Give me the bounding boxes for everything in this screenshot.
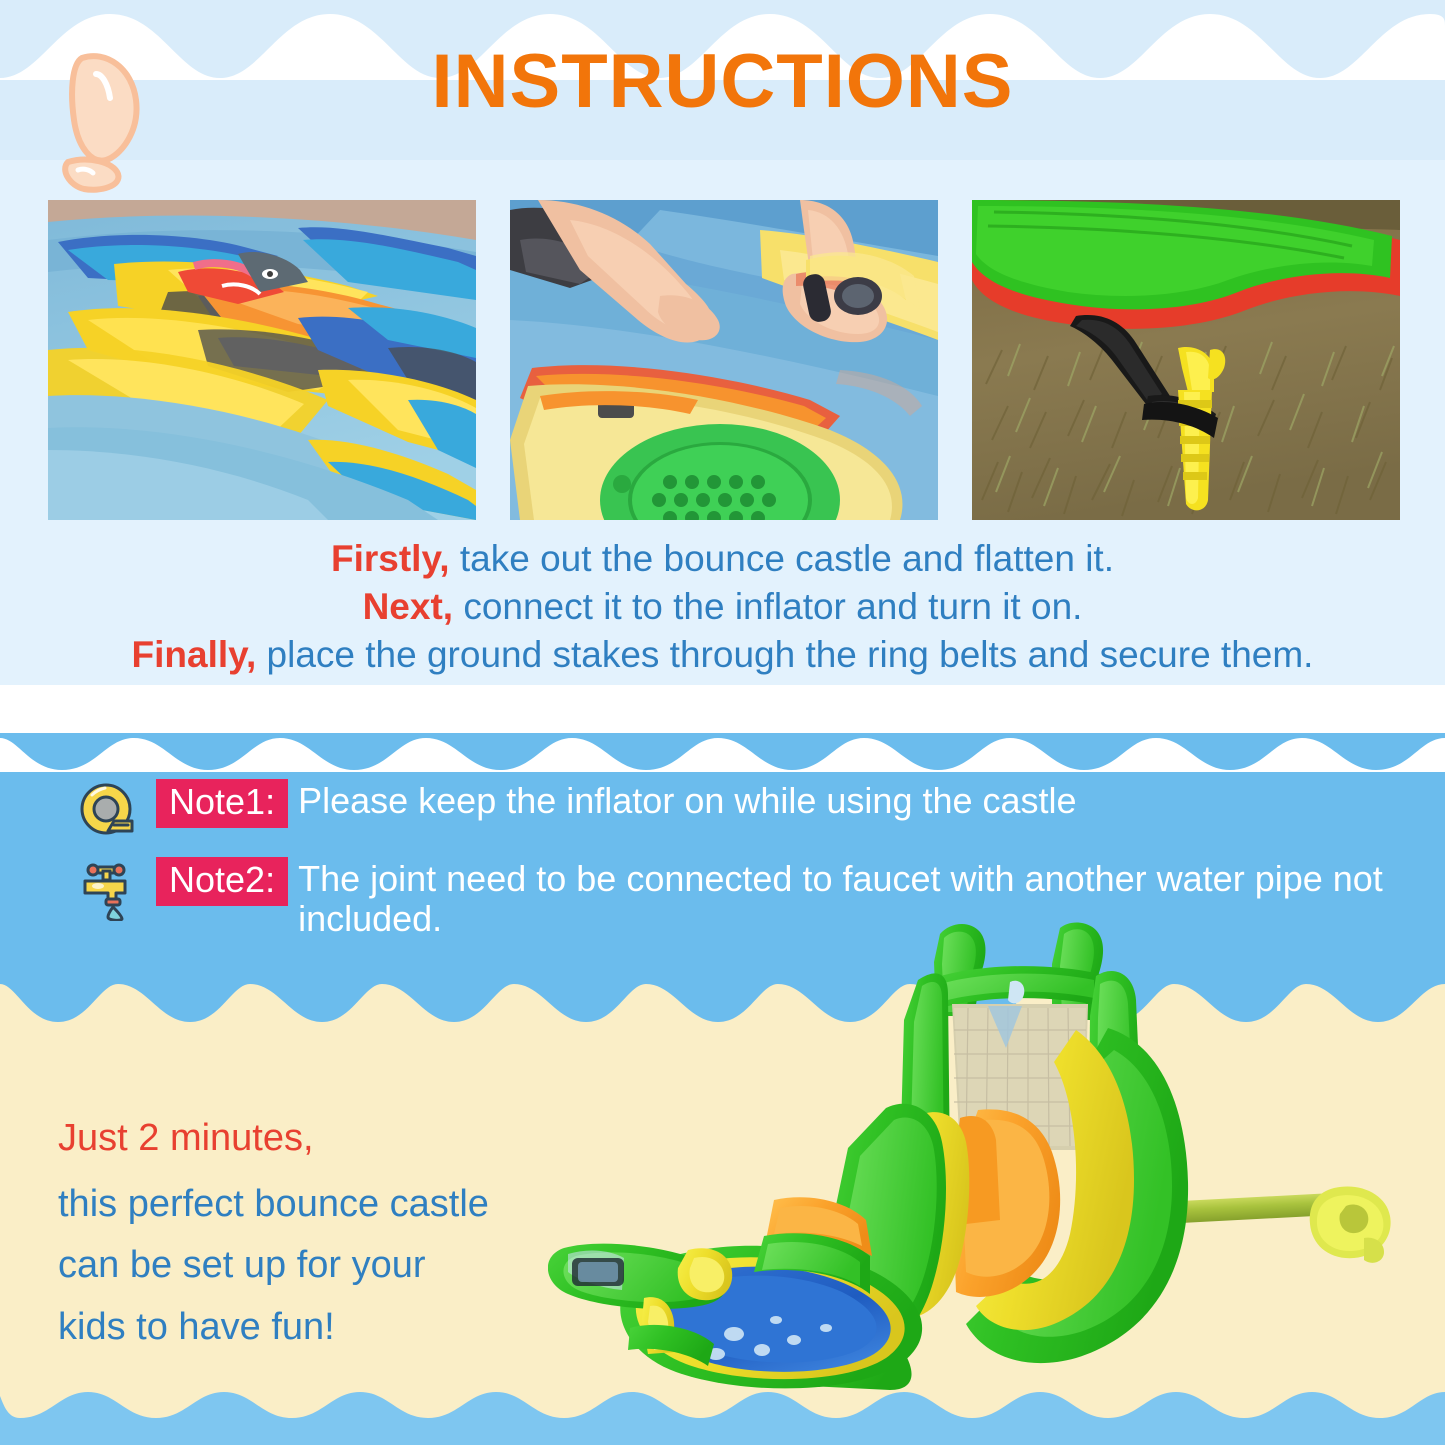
step-body-2: connect it to the inflator and turn it o… xyxy=(453,586,1082,627)
tape-measure-icon xyxy=(78,781,140,843)
step-body-3: place the ground stakes through the ring… xyxy=(256,634,1313,675)
steps-section: Firstly, take out the bounce castle and … xyxy=(0,160,1445,685)
instructions-page: INSTRUCTIONS xyxy=(0,0,1445,1445)
step-keyword-2: Next, xyxy=(363,586,453,627)
page-title: INSTRUCTIONS xyxy=(0,38,1445,125)
step-keyword-1: Firstly, xyxy=(331,538,450,579)
step-body-1: take out the bounce castle and flatten i… xyxy=(450,538,1114,579)
step-line-3: Finally, place the ground stakes through… xyxy=(0,631,1445,679)
photo-unfolded-castle xyxy=(48,200,476,520)
step-line-2: Next, connect it to the inflator and tur… xyxy=(0,583,1445,631)
note-row-1: Note1: Please keep the inflator on while… xyxy=(78,781,1408,843)
product-bounce-castle-water-slide xyxy=(548,920,1445,1390)
step-line-1: Firstly, take out the bounce castle and … xyxy=(0,535,1445,583)
faucet-water-drop-icon xyxy=(78,859,140,921)
notes-wave-divider xyxy=(0,732,1445,772)
exclamation-water-drop-icon xyxy=(48,44,168,194)
note-text-1: Please keep the inflator on while using … xyxy=(298,781,1076,821)
step-keyword-3: Finally, xyxy=(132,634,257,675)
note-badge-2: Note2: xyxy=(156,857,288,906)
header-band: INSTRUCTIONS xyxy=(0,0,1445,160)
photo-row xyxy=(48,200,1400,520)
note-badge-1: Note1: xyxy=(156,779,288,828)
steps-text: Firstly, take out the bounce castle and … xyxy=(0,535,1445,679)
photo-ground-stake xyxy=(972,200,1400,520)
photo-connect-inflator xyxy=(510,200,938,520)
